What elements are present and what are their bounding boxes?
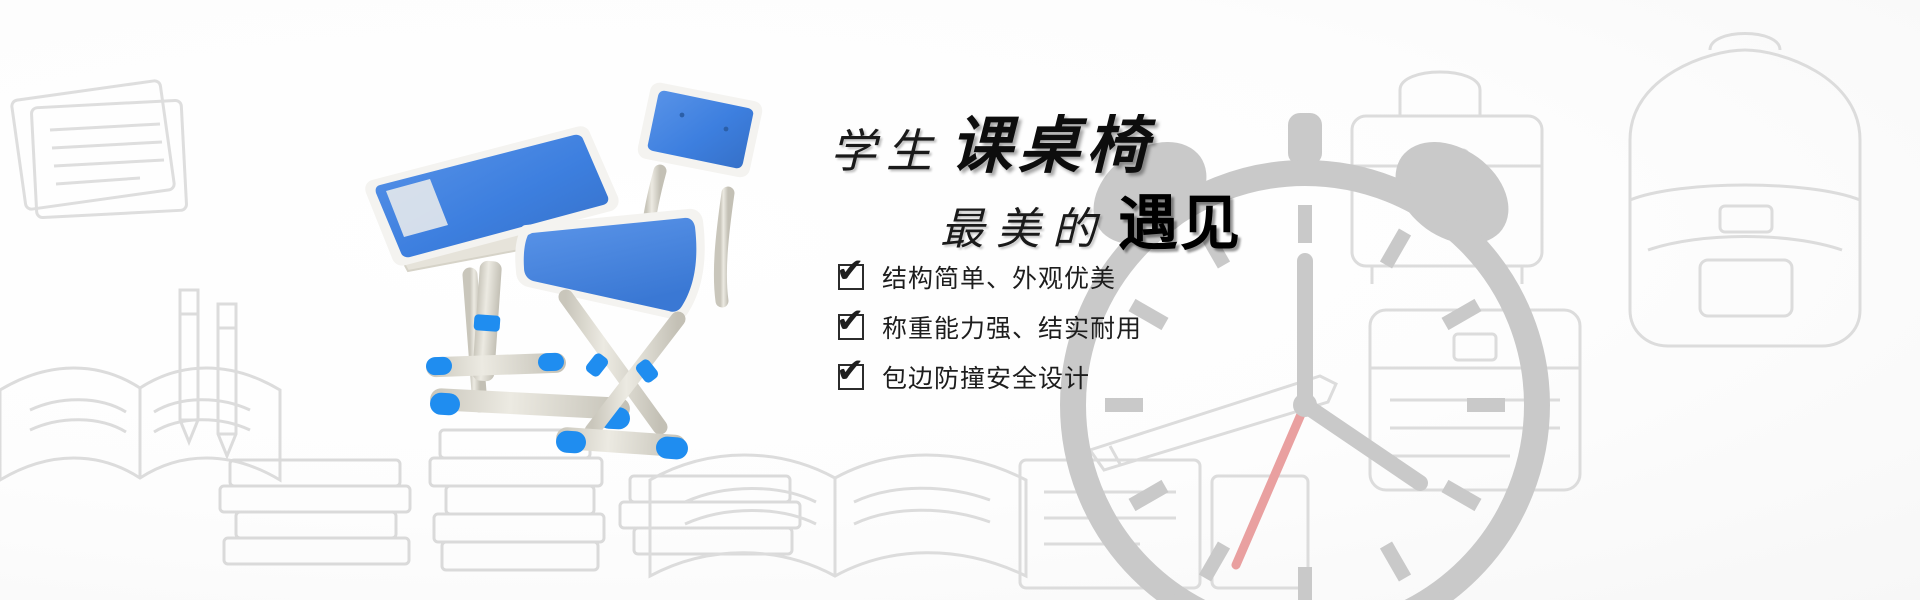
backpack-doodle (1570, 20, 1920, 380)
feature-list: ✔ 结构简单、外观优美 ✔ 称重能力强、结实耐用 ✔ 包边防撞安全设计 (838, 255, 1142, 405)
headline: 学生课桌椅 最美的遇见 (820, 95, 1380, 245)
feature-label: 结构简单、外观优美 (882, 259, 1116, 295)
checkbox-checked-icon: ✔ (838, 364, 864, 390)
headline-line2-strong: 遇见 (1118, 190, 1242, 257)
headline-line1-strong: 课桌椅 (950, 113, 1154, 181)
headline-line-1: 学生课桌椅 (830, 95, 1154, 185)
headline-line1-soft: 学生 (830, 126, 942, 177)
feature-label: 称重能力强、结实耐用 (882, 309, 1142, 345)
feature-item: ✔ 称重能力强、结实耐用 (838, 305, 1142, 349)
checkbox-checked-icon: ✔ (838, 314, 864, 340)
notebook-doodle (0, 70, 260, 270)
checkbox-checked-icon: ✔ (838, 264, 864, 290)
headline-line2-soft: 最美的 (940, 205, 1108, 254)
marketing-copy: 学生课桌椅 最美的遇见 ✔ 结构简单、外观优美 ✔ 称重能力强、结实耐用 ✔ 包… (820, 95, 1380, 495)
pencil-doodle (140, 270, 290, 490)
open-book-doodle (0, 330, 290, 530)
feature-item: ✔ 包边防撞安全设计 (838, 355, 1142, 399)
feature-item: ✔ 结构简单、外观优美 (838, 255, 1142, 299)
student-desk-and-chair-photo (330, 75, 810, 495)
promo-banner: 学生课桌椅 最美的遇见 ✔ 结构简单、外观优美 ✔ 称重能力强、结实耐用 ✔ 包… (0, 0, 1920, 600)
headline-line-2: 最美的遇见 (940, 175, 1242, 262)
feature-label: 包边防撞安全设计 (882, 359, 1090, 395)
